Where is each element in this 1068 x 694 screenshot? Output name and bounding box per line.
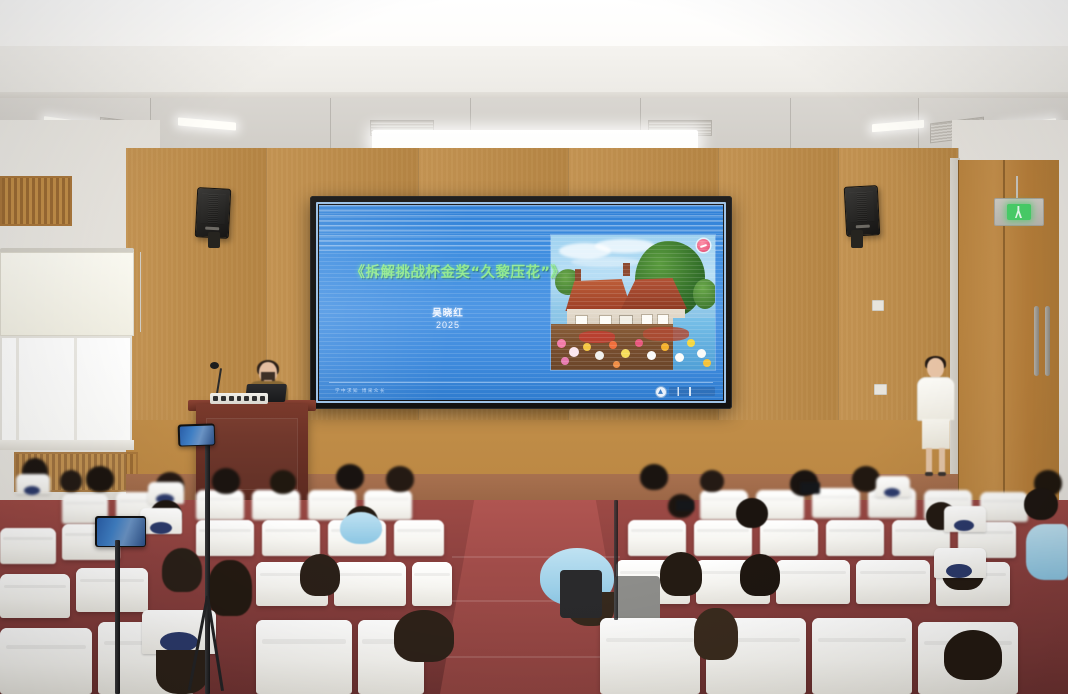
audience-head — [86, 466, 114, 492]
slide-author: 吴晓红 — [333, 305, 563, 319]
slide-divider — [329, 382, 713, 383]
wall-socket — [874, 384, 887, 395]
secondary-stand — [614, 500, 618, 620]
cap-bow — [150, 522, 172, 534]
slide-watermark-icon — [697, 239, 710, 252]
door-handle[interactable] — [1045, 306, 1050, 376]
audience-head — [212, 468, 240, 494]
chair[interactable] — [776, 560, 850, 604]
audience-head — [944, 630, 1002, 680]
slide-year: 2025 — [333, 320, 563, 330]
audience-head — [60, 470, 82, 492]
wall-speaker-right — [844, 185, 881, 237]
slide-institution-logo — [655, 386, 715, 397]
attendant-head — [927, 358, 944, 378]
chair[interactable] — [76, 568, 148, 612]
selfie-stick[interactable] — [115, 540, 120, 694]
cap-bow — [160, 632, 198, 652]
window-blind[interactable] — [0, 252, 134, 336]
audience-head — [156, 650, 208, 694]
cap-bow — [884, 488, 900, 497]
chair[interactable] — [600, 618, 700, 694]
handheld-phone[interactable] — [676, 500, 694, 511]
surgical-cap — [340, 512, 382, 544]
audience-head — [660, 552, 702, 596]
speaker-mount — [208, 232, 220, 248]
bag — [560, 570, 602, 618]
chair[interactable] — [0, 574, 70, 618]
chair[interactable] — [0, 628, 92, 694]
audience-head — [386, 466, 414, 492]
chair[interactable] — [628, 520, 686, 556]
cap-bow — [946, 564, 972, 578]
chair[interactable] — [826, 520, 884, 556]
chair[interactable] — [196, 490, 244, 520]
sign-stem — [1016, 176, 1018, 198]
audience-head — [740, 554, 780, 596]
chair[interactable] — [334, 562, 406, 606]
lecture-hall-photo: 《拆解挑战杯金奖“久黎压花”》 吴晓红 2025 学中求知 博采众长 — [0, 0, 1068, 694]
audience-head — [640, 464, 668, 490]
tripod-phone-top[interactable] — [178, 423, 216, 446]
handheld-camera[interactable] — [800, 482, 820, 494]
tripod-phone-recording[interactable] — [95, 516, 146, 547]
audience-head — [394, 610, 454, 662]
tripod-pole[interactable] — [205, 432, 210, 694]
chair[interactable] — [980, 492, 1028, 522]
standing-attendant — [916, 358, 956, 478]
slide-footer-slogan: 学中求知 博采众长 — [335, 388, 386, 394]
podium-control-panel[interactable] — [210, 393, 268, 404]
microphone-head — [210, 362, 219, 369]
audience-head — [736, 498, 768, 528]
chair[interactable] — [412, 562, 452, 606]
audience-head — [700, 470, 724, 492]
audience-head — [694, 608, 738, 660]
slide-title: 《拆解挑战杯金奖“久黎压花”》 — [333, 261, 583, 282]
chair[interactable] — [256, 620, 352, 694]
attendant-uniform — [917, 377, 955, 421]
chair[interactable] — [394, 520, 444, 556]
cap-bow — [954, 520, 974, 531]
chair[interactable] — [812, 618, 912, 694]
institution-name-mark — [669, 387, 715, 396]
wall-socket — [872, 300, 884, 311]
speaker-mount — [851, 230, 863, 248]
cap-bow — [24, 486, 40, 495]
ceiling-soffit — [0, 0, 1068, 46]
audience-head — [1024, 488, 1058, 520]
audience-head — [162, 548, 202, 592]
chair[interactable] — [760, 520, 818, 556]
window-sill — [0, 440, 134, 450]
wall-vent-grille — [0, 176, 72, 226]
slide-artwork-image — [551, 235, 715, 370]
chair[interactable] — [262, 520, 320, 556]
slide-surface: 《拆解挑战杯金奖“久黎压花”》 吴晓红 2025 学中求知 博采众长 — [319, 205, 723, 400]
audience-head — [300, 554, 340, 596]
institution-emblem-icon — [655, 386, 667, 398]
door-handle[interactable] — [1034, 306, 1039, 376]
exit-icon — [1007, 204, 1031, 220]
exit-sign — [994, 198, 1044, 226]
blind-cord[interactable] — [140, 252, 141, 332]
led-presentation-screen[interactable]: 《拆解挑战杯金奖“久黎压花”》 吴晓红 2025 学中求知 博采众长 — [310, 196, 732, 409]
surgical-gown — [1026, 524, 1068, 580]
chair[interactable] — [0, 528, 56, 564]
audience-head — [336, 464, 364, 490]
audience-head — [208, 560, 252, 616]
chair[interactable] — [252, 490, 300, 520]
audience-head — [270, 470, 296, 494]
chair[interactable] — [856, 560, 930, 604]
window — [0, 336, 132, 448]
